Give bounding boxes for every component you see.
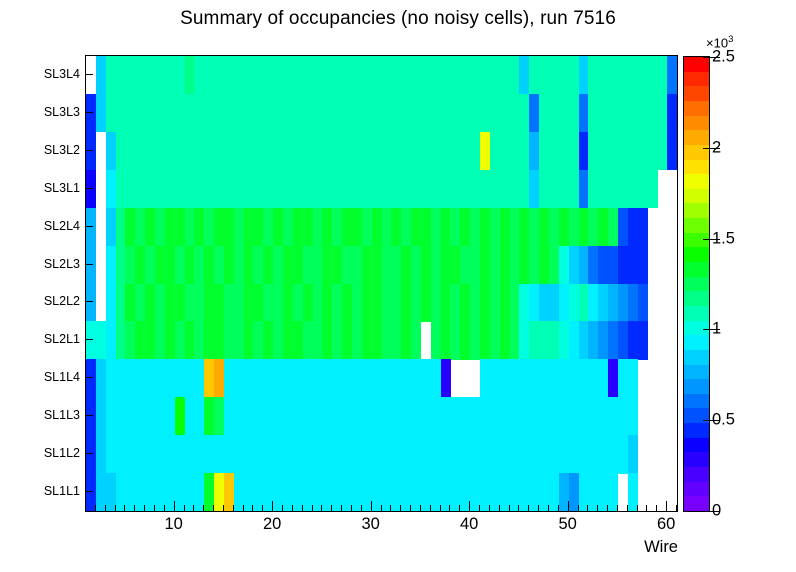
heatmap-cell <box>273 359 283 398</box>
heatmap-cell <box>204 208 214 247</box>
heatmap-cell <box>421 397 431 436</box>
y-axis-tick <box>85 112 93 113</box>
heatmap-cell <box>253 246 263 285</box>
x-axis-tick <box>85 505 86 512</box>
heatmap-cell <box>549 397 559 436</box>
heatmap-cell <box>322 397 332 436</box>
heatmap-cell <box>569 208 579 247</box>
heatmap-cell <box>549 284 559 323</box>
heatmap-cell <box>125 170 135 209</box>
heatmap-cell <box>125 321 135 360</box>
y-axis-labels: SL3L4SL3L3SL3L2SL3L1SL2L4SL2L3SL2L2SL2L1… <box>18 55 80 512</box>
heatmap-cell <box>470 94 480 133</box>
x-axis-tick <box>361 505 362 512</box>
heatmap-cell <box>372 359 382 398</box>
heatmap-cell <box>224 246 234 285</box>
heatmap-cell <box>500 435 510 474</box>
heatmap-cell <box>303 246 313 285</box>
y-axis-label-sl2l2: SL2L2 <box>20 294 80 308</box>
x-axis-tick <box>509 505 510 512</box>
heatmap-cell <box>519 246 529 285</box>
color-bar-tick-label: 2 <box>712 138 721 157</box>
heatmap-cell <box>372 170 382 209</box>
heatmap-cell <box>322 208 332 247</box>
heatmap-cell <box>352 359 362 398</box>
heatmap-cell <box>155 397 165 436</box>
y-axis-tick <box>85 453 93 454</box>
x-axis-tick <box>174 501 175 512</box>
heatmap-cell <box>273 284 283 323</box>
heatmap-cell <box>352 435 362 474</box>
heatmap-cell <box>500 132 510 171</box>
exponent-base: ×10 <box>706 35 728 50</box>
y-axis-tick <box>85 264 93 265</box>
heatmap-cell <box>638 321 648 360</box>
x-axis-tick <box>213 505 214 512</box>
x-axis-tick-label: 20 <box>263 515 281 534</box>
x-axis-tick <box>312 505 313 512</box>
x-axis-tick <box>430 505 431 512</box>
heatmap-cell <box>175 132 185 171</box>
x-axis-tick <box>223 505 224 512</box>
heatmap-cell <box>106 246 116 285</box>
x-axis-tick <box>440 505 441 512</box>
heatmap-cell <box>125 94 135 133</box>
heatmap-cell <box>401 56 411 95</box>
x-axis-tick-label: 40 <box>460 515 478 534</box>
heatmap-cell <box>450 246 460 285</box>
y-axis-tick <box>85 415 93 416</box>
heatmap-cell <box>273 321 283 360</box>
heatmap-cell <box>421 359 431 398</box>
heatmap-cell <box>273 170 283 209</box>
heatmap-cell <box>450 321 460 360</box>
heatmap-cell <box>224 170 234 209</box>
heatmap-cell <box>618 208 628 247</box>
x-axis-tick <box>95 505 96 512</box>
heatmap-cell <box>372 56 382 95</box>
heatmap-cell <box>352 56 362 95</box>
heatmap-cell <box>519 170 529 209</box>
heatmap-cell <box>352 284 362 323</box>
x-axis-tick <box>184 505 185 512</box>
heatmap-cell <box>175 284 185 323</box>
x-axis-tick <box>597 505 598 512</box>
heatmap-cell <box>450 132 460 171</box>
x-axis-tick <box>479 505 480 512</box>
heatmap-cell <box>549 94 559 133</box>
x-axis-tick <box>351 505 352 512</box>
x-axis-tick <box>124 505 125 512</box>
heatmap-cell <box>421 284 431 323</box>
heatmap-cell <box>125 132 135 171</box>
heatmap-cell <box>638 246 648 285</box>
heatmap-cell <box>549 321 559 360</box>
heatmap-cell <box>500 208 510 247</box>
heatmap-cell <box>106 284 116 323</box>
heatmap-cell <box>322 321 332 360</box>
heatmap-cell <box>352 397 362 436</box>
heatmap-cell <box>598 397 608 436</box>
heatmap-cell <box>470 56 480 95</box>
heatmap-cell <box>175 397 185 436</box>
heatmap-cell <box>401 94 411 133</box>
heatmap-cell <box>667 132 677 171</box>
heatmap-cell <box>125 397 135 436</box>
heatmap-cell <box>500 56 510 95</box>
heatmap-cell <box>401 359 411 398</box>
x-axis-labels: 102030405060 <box>85 515 679 539</box>
heatmap-cell <box>273 246 283 285</box>
heatmap-cell <box>470 170 480 209</box>
heatmap-cell <box>125 284 135 323</box>
x-axis-tick <box>272 501 273 512</box>
x-axis-tick <box>568 501 569 512</box>
root-canvas: Summary of occupancies (no noisy cells),… <box>0 0 796 572</box>
x-axis-tick <box>203 505 204 512</box>
x-axis-tick <box>144 505 145 512</box>
heatmap-cell <box>421 56 431 95</box>
heatmap-cell <box>470 435 480 474</box>
heatmap-cell <box>470 208 480 247</box>
heatmap-cell <box>155 246 165 285</box>
heatmap-cell <box>450 284 460 323</box>
y-axis-label-sl2l3: SL2L3 <box>20 257 80 271</box>
heatmap-cell <box>618 359 628 398</box>
heatmap-cell <box>224 284 234 323</box>
heatmap-cell <box>224 132 234 171</box>
x-axis-tick <box>489 505 490 512</box>
heatmap-cell <box>253 94 263 133</box>
heatmap-cell <box>569 435 579 474</box>
heatmap-cell <box>598 132 608 171</box>
x-axis-tick <box>321 505 322 512</box>
x-axis-tick <box>459 505 460 512</box>
heatmap-cell <box>175 94 185 133</box>
heatmap-cell <box>647 56 657 95</box>
x-axis-tick-label: 50 <box>558 515 576 534</box>
heatmap-cell <box>204 359 214 398</box>
heatmap-cell <box>500 321 510 360</box>
heatmap-cell <box>155 435 165 474</box>
heatmap-cell <box>401 435 411 474</box>
heatmap-cell <box>372 397 382 436</box>
y-axis-tick <box>85 301 93 302</box>
heatmap-cell <box>598 56 608 95</box>
heatmap-cell <box>106 132 116 171</box>
y-axis-label-sl1l1: SL1L1 <box>20 484 80 498</box>
heatmap-cell <box>253 132 263 171</box>
heatmap-cell <box>598 359 608 398</box>
heatmap-cell <box>204 284 214 323</box>
heatmap-cell <box>569 284 579 323</box>
heatmap-cell <box>175 435 185 474</box>
heatmap-cell <box>401 284 411 323</box>
heatmap-cell <box>519 397 529 436</box>
heatmap-cell <box>322 246 332 285</box>
heatmap-cell <box>441 359 451 398</box>
x-axis-title: Wire <box>644 538 678 557</box>
x-axis-tick-label: 10 <box>164 515 182 534</box>
heatmap-cell <box>618 397 628 436</box>
x-axis-tick <box>617 505 618 512</box>
heatmap-cell <box>450 208 460 247</box>
heatmap-cell <box>175 170 185 209</box>
heatmap-cell <box>204 321 214 360</box>
y-axis-label-sl3l1: SL3L1 <box>20 181 80 195</box>
x-axis-tick <box>233 505 234 512</box>
heatmap-cell <box>224 435 234 474</box>
heatmap-cell <box>352 170 362 209</box>
heatmap-cell <box>372 321 382 360</box>
heatmap-cell <box>618 284 628 323</box>
heatmap-cell <box>106 208 116 247</box>
heatmap-cell <box>106 56 116 95</box>
heatmap-cell <box>647 132 657 171</box>
x-axis-tick <box>646 505 647 512</box>
x-axis-tick <box>558 505 559 512</box>
heatmap-cell <box>450 94 460 133</box>
heatmap-cell <box>569 397 579 436</box>
heatmap-cell <box>106 321 116 360</box>
x-axis-tick <box>676 505 677 512</box>
y-axis-label-sl1l4: SL1L4 <box>20 370 80 384</box>
x-axis-tick <box>538 505 539 512</box>
heatmap-cell <box>372 132 382 171</box>
heatmap-cell <box>598 435 608 474</box>
heatmap-cell <box>500 359 510 398</box>
heatmap-cell <box>549 56 559 95</box>
heatmap-cell <box>618 132 628 171</box>
heatmap-cell <box>569 94 579 133</box>
y-axis-label-sl3l3: SL3L3 <box>20 105 80 119</box>
y-axis-ticks <box>85 55 95 512</box>
heatmap-cell <box>500 397 510 436</box>
heatmap-cell <box>372 246 382 285</box>
heatmap-cell <box>421 132 431 171</box>
color-bar-labels: 00.511.522.5 <box>712 56 782 526</box>
heatmap-cell <box>549 170 559 209</box>
heatmap-cell <box>224 359 234 398</box>
heatmap-cell <box>549 132 559 171</box>
heatmap-cell <box>155 321 165 360</box>
heatmap-cell <box>106 397 116 436</box>
x-axis-tick <box>262 505 263 512</box>
chart-title: Summary of occupancies (no noisy cells),… <box>0 8 796 30</box>
x-axis-tick <box>193 505 194 512</box>
heatmap-cell <box>253 284 263 323</box>
y-axis-tick <box>85 74 93 75</box>
heatmap-cell <box>303 359 313 398</box>
heatmap-cell <box>253 359 263 398</box>
heatmap-cell <box>253 56 263 95</box>
heatmap-cell <box>598 321 608 360</box>
x-axis-tick <box>518 505 519 512</box>
heatmap-cell <box>106 170 116 209</box>
heatmap-cell <box>155 208 165 247</box>
x-axis-tick <box>154 505 155 512</box>
heatmap-cell <box>155 56 165 95</box>
heatmap-cell <box>470 284 480 323</box>
heatmap-cell <box>273 397 283 436</box>
x-axis-tick <box>282 505 283 512</box>
y-axis-tick <box>85 491 93 492</box>
heatmap-cell <box>303 170 313 209</box>
heatmap-cell <box>450 397 460 436</box>
y-axis-label-sl1l3: SL1L3 <box>20 408 80 422</box>
heatmap-cell <box>618 170 628 209</box>
heatmap-cell <box>450 56 460 95</box>
heatmap-cell <box>618 321 628 360</box>
heatmap-cell <box>322 132 332 171</box>
x-axis-tick <box>656 505 657 512</box>
heatmap-cell <box>569 56 579 95</box>
x-axis-tick <box>371 501 372 512</box>
heatmap-cell <box>598 94 608 133</box>
heatmap-cell <box>628 435 638 474</box>
heatmap-cell <box>628 397 638 436</box>
color-bar-tick-label: 1 <box>712 320 721 339</box>
exponent-power: 3 <box>728 34 733 45</box>
heatmap-cell <box>569 359 579 398</box>
heatmap-cell <box>352 246 362 285</box>
heatmap-cell <box>224 56 234 95</box>
heatmap-cell <box>421 208 431 247</box>
heatmap-cell <box>569 170 579 209</box>
heatmap-cell <box>401 208 411 247</box>
x-axis-tick <box>400 505 401 512</box>
heatmap-cell <box>372 94 382 133</box>
y-axis-label-sl3l4: SL3L4 <box>20 67 80 81</box>
heatmap-cell <box>421 435 431 474</box>
heatmap-cell <box>638 284 648 323</box>
heatmap-cell <box>470 321 480 360</box>
x-axis-tick <box>420 505 421 512</box>
heatmap-cell <box>273 94 283 133</box>
heatmap-cells <box>86 56 677 511</box>
y-axis-label-sl2l1: SL2L1 <box>20 332 80 346</box>
color-bar-tick-label: 0 <box>712 502 721 521</box>
heatmap-cell <box>519 208 529 247</box>
heatmap-cell <box>372 284 382 323</box>
heatmap-cell <box>569 132 579 171</box>
heatmap-cell <box>450 170 460 209</box>
heatmap-cell <box>421 170 431 209</box>
heatmap-cell <box>106 94 116 133</box>
x-axis-tick <box>341 505 342 512</box>
heatmap-cell <box>352 208 362 247</box>
x-axis-tick <box>390 505 391 512</box>
heatmap-cell <box>598 208 608 247</box>
x-axis-tick <box>637 505 638 512</box>
heatmap-cell <box>303 397 313 436</box>
heatmap-cell <box>125 359 135 398</box>
heatmap-cell <box>519 321 529 360</box>
heatmap-cell <box>322 435 332 474</box>
x-axis-tick <box>499 505 500 512</box>
heatmap-cell <box>411 321 421 360</box>
color-bar-tick-label: 2.5 <box>712 48 735 67</box>
heatmap-cell <box>204 56 214 95</box>
x-axis-tick <box>666 501 667 512</box>
heatmap-cell <box>519 56 529 95</box>
y-axis-label-sl2l4: SL2L4 <box>20 219 80 233</box>
heatmap-cell <box>450 435 460 474</box>
heatmap-cell <box>175 321 185 360</box>
heatmap-cell <box>322 284 332 323</box>
heatmap-cell <box>125 208 135 247</box>
heatmap-cell <box>322 170 332 209</box>
heatmap-cell <box>618 56 628 95</box>
heatmap-cell <box>273 56 283 95</box>
x-axis-tick-label: 60 <box>657 515 675 534</box>
x-axis-tick <box>410 505 411 512</box>
heatmap-cell <box>322 56 332 95</box>
heatmap-cell <box>253 435 263 474</box>
heatmap-cell <box>401 246 411 285</box>
heatmap-cell <box>519 284 529 323</box>
heatmap-cell <box>224 94 234 133</box>
heatmap-cell <box>125 246 135 285</box>
x-axis-tick <box>469 501 470 512</box>
heatmap-cell <box>303 321 313 360</box>
heatmap-cell <box>224 208 234 247</box>
color-bar-tick-label: 1.5 <box>712 229 735 248</box>
heatmap-cell <box>647 170 657 209</box>
y-axis-tick <box>85 339 93 340</box>
x-axis-tick <box>381 505 382 512</box>
heatmap-cell <box>204 246 214 285</box>
y-axis-tick <box>85 377 93 378</box>
heatmap-cell <box>303 94 313 133</box>
heatmap-cell <box>401 132 411 171</box>
heatmap-cell <box>204 397 214 436</box>
heatmap-cell <box>273 208 283 247</box>
heatmap-cell <box>500 246 510 285</box>
heatmap-cell <box>253 397 263 436</box>
x-axis-tick <box>115 505 116 512</box>
heatmap-cell <box>204 170 214 209</box>
heatmap-cell <box>470 132 480 171</box>
heatmap-cell <box>303 435 313 474</box>
heatmap-cell <box>647 94 657 133</box>
heatmap-cell <box>519 132 529 171</box>
y-axis-tick <box>85 150 93 151</box>
x-axis-tick <box>449 505 450 512</box>
heatmap-cell <box>372 208 382 247</box>
heatmap-cell <box>598 284 608 323</box>
heatmap-cell <box>401 321 411 360</box>
heatmap-cell <box>352 321 362 360</box>
heatmap-cell <box>253 208 263 247</box>
color-bar-exponent: ×103 <box>706 34 733 50</box>
heatmap-cell <box>253 321 263 360</box>
heatmap-cell <box>303 208 313 247</box>
heatmap-cell <box>372 435 382 474</box>
heatmap-cell <box>224 397 234 436</box>
y-axis-label-sl1l2: SL1L2 <box>20 446 80 460</box>
heatmap-cell <box>549 435 559 474</box>
heatmap-cell <box>618 435 628 474</box>
x-axis-tick <box>607 505 608 512</box>
x-axis-tick <box>528 505 529 512</box>
x-axis-tick <box>252 505 253 512</box>
heatmap-cell <box>519 359 529 398</box>
heatmap-cell <box>598 246 608 285</box>
heatmap-cell <box>175 208 185 247</box>
heatmap-cell <box>175 56 185 95</box>
x-axis-tick <box>243 505 244 512</box>
